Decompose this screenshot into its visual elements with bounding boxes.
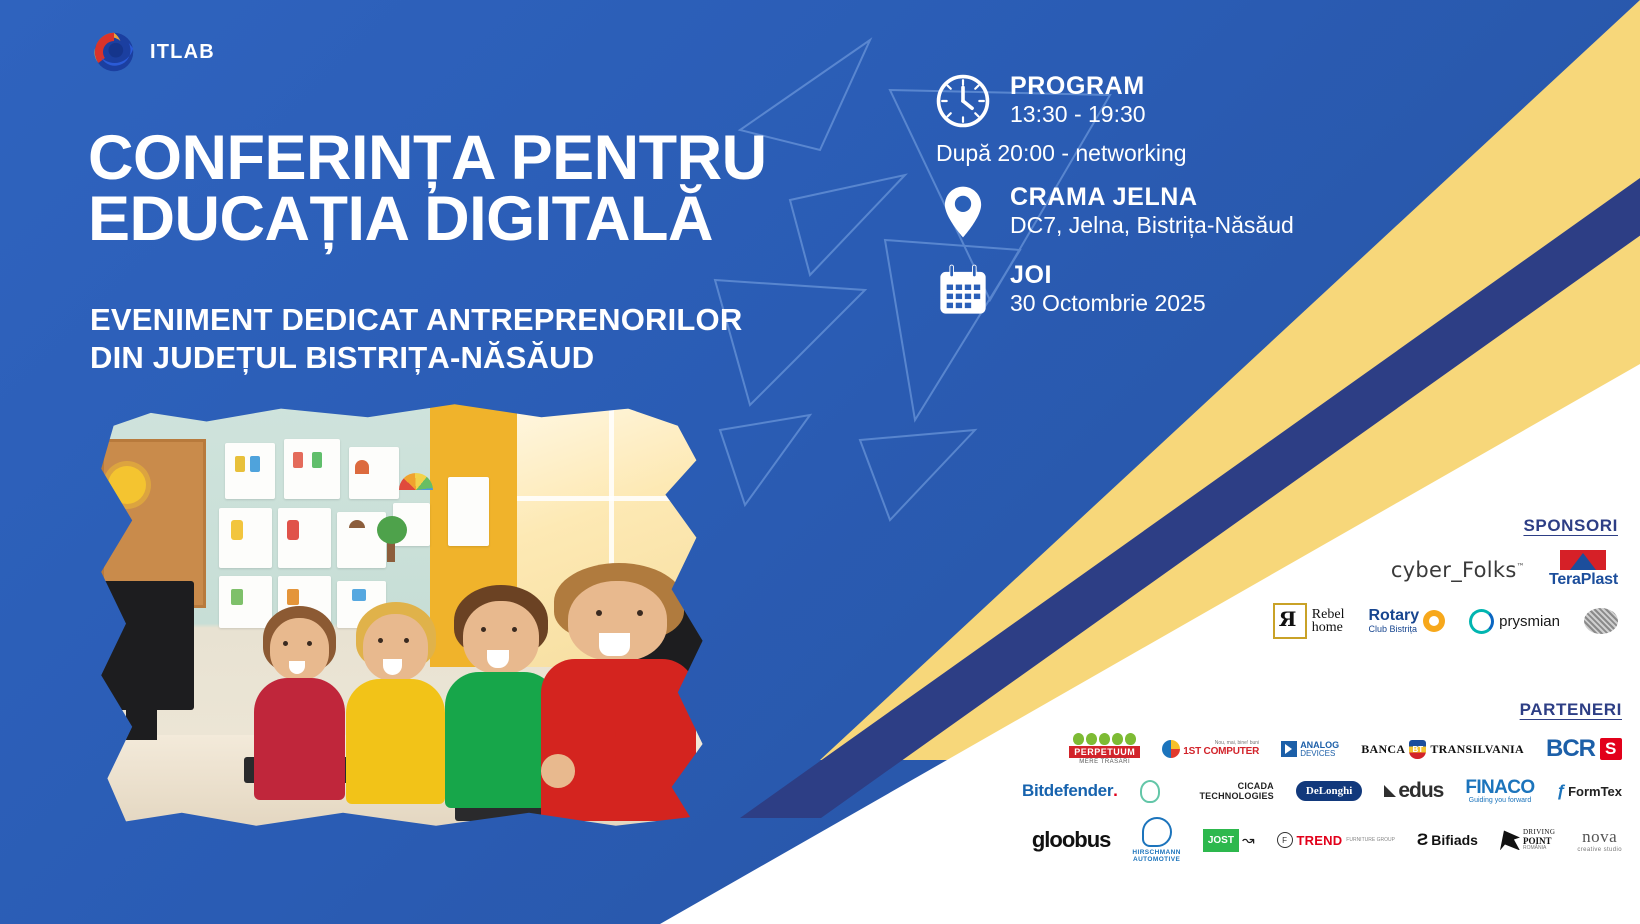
sponsors-section: SPONSORI cyber_Folks™ TeraPlast Rebel ho… — [1198, 516, 1618, 639]
partners-row-2: Bitdefender. CICADA TECHNOLOGIES DeLongh… — [1022, 778, 1622, 804]
bt-shield-icon: BT — [1409, 740, 1426, 759]
logo-banca-transilvania: BANCA BT TRANSILVANIA — [1361, 740, 1524, 759]
driving-point-mark-icon — [1500, 830, 1520, 850]
edus-mark-icon — [1384, 785, 1396, 797]
sponsors-row-1: cyber_Folks™ TeraPlast — [1198, 550, 1618, 589]
teraplast-mark-icon — [1560, 550, 1606, 570]
bcr-mark-icon — [1600, 738, 1622, 760]
logo-gloobus: gloobus — [1032, 827, 1111, 853]
rotary-wheel-icon — [1423, 610, 1445, 632]
logo-analog-devices: ANALOG DEVICES — [1281, 741, 1339, 758]
subtitle-line-2: DIN JUDEȚUL BISTRIȚA-NĂSĂUD — [90, 340, 594, 375]
sponsors-heading: SPONSORI — [1198, 516, 1618, 536]
logo-rebel-home: Rebel home — [1273, 603, 1345, 639]
title-line-1: CONFERINȚA PENTRU — [88, 123, 767, 193]
networking-note: După 20:00 - networking — [936, 140, 1352, 167]
brand-logo: ITLAB — [92, 30, 215, 74]
logo-formtex: ƒ FormTex — [1557, 781, 1622, 801]
date-label: JOI — [1010, 261, 1052, 289]
logo-jost: JOST ↝ — [1203, 829, 1255, 852]
title-line-2: EDUCAȚIA DIGITALĂ — [88, 189, 928, 250]
apples-icon — [1073, 733, 1136, 745]
formtex-mark-icon: ƒ — [1557, 781, 1566, 801]
info-text-location: CRAMA JELNA DC7, Jelna, Bistrița-Năsăud — [1010, 184, 1294, 240]
logo-perpetuum: PERPETUUM MERE TRĂSĂRI — [1069, 733, 1140, 765]
prysmian-mark-icon — [1469, 609, 1494, 634]
partners-row-1: PERPETUUM MERE TRĂSĂRI Nou, mai, bine! b… — [1022, 733, 1622, 765]
itlab-swirl-icon — [92, 30, 136, 74]
analog-mark-icon — [1281, 741, 1297, 757]
logo-trend: F TREND FURNITURE GROUP — [1277, 832, 1395, 848]
page-title: CONFERINȚA PENTRU EDUCAȚIA DIGITALĂ — [88, 128, 928, 250]
info-row-location: CRAMA JELNA DC7, Jelna, Bistrița-Năsăud — [932, 181, 1352, 243]
logo-cicada-technologies: CICADA TECHNOLOGIES — [1140, 780, 1274, 803]
date-value: 30 Octombrie 2025 — [1010, 289, 1206, 318]
logo-hirschmann-automotive: HIRSCHMANN AUTOMOTIVE — [1132, 817, 1180, 864]
brand-name: ITLAB — [150, 41, 215, 64]
page-subtitle: EVENIMENT DEDICAT ANTREPRENORILOR DIN JU… — [90, 301, 950, 377]
logo-delonghi: DeLonghi — [1296, 781, 1362, 801]
rebel-monogram-icon — [1273, 603, 1307, 639]
calendar-icon — [932, 259, 994, 321]
poster-canvas: ITLAB CONFERINȚA PENTRU EDUCAȚIA DIGITAL… — [0, 0, 1640, 924]
program-value: 13:30 - 19:30 — [1010, 100, 1146, 129]
logo-bcr: BCR — [1546, 735, 1622, 763]
info-row-program: PROGRAM 13:30 - 19:30 — [932, 70, 1352, 132]
info-text-program: PROGRAM 13:30 - 19:30 — [1010, 73, 1146, 129]
trend-circle-icon: F — [1277, 832, 1293, 848]
logo-teraplast: TeraPlast — [1549, 550, 1618, 589]
partners-row-3: gloobus HIRSCHMANN AUTOMOTIVE JOST ↝ F T… — [1022, 817, 1622, 864]
arrow-icon: ↝ — [1242, 831, 1255, 849]
logo-1st-computer: Nou, mai, bine! buni 1ST COMPUTER — [1162, 740, 1259, 758]
swirl-icon — [1162, 740, 1180, 758]
logo-finaco: FINACO Guiding you forward — [1465, 778, 1534, 804]
bifiads-mark-icon: Ƨ — [1417, 830, 1428, 850]
location-label: CRAMA JELNA — [1010, 183, 1198, 211]
logo-nova-creative-studio: nova creative studio — [1577, 827, 1622, 853]
hirschmann-mark-icon — [1142, 817, 1172, 847]
sponsors-row-2: Rebel home Rotary Club Bistrița prysmian — [1198, 603, 1618, 639]
location-value: DC7, Jelna, Bistrița-Năsăud — [1010, 211, 1294, 240]
logo-cyber-folks: cyber_Folks™ — [1391, 558, 1525, 582]
map-pin-icon — [932, 181, 994, 243]
clock-icon — [932, 70, 994, 132]
event-info-panel: PROGRAM 13:30 - 19:30 După 20:00 - netwo… — [932, 70, 1352, 321]
partners-section: PARTENERI PERPETUUM MERE TRĂSĂRI Nou, ma… — [1022, 700, 1622, 864]
subtitle-line-1: EVENIMENT DEDICAT ANTREPRENORILOR — [90, 302, 742, 337]
logo-bitdefender: Bitdefender. — [1022, 781, 1118, 801]
classroom-photo — [95, 400, 715, 830]
logo-crest-badge — [1584, 608, 1618, 634]
logo-driving-point: DRIVING POINT ROMÂNIA — [1500, 829, 1555, 851]
logo-bifiads: Ƨ Bifiads — [1417, 830, 1478, 850]
info-row-date: JOI 30 Octombrie 2025 — [932, 259, 1352, 321]
logo-edus: edus — [1384, 779, 1443, 803]
logo-prysmian: prysmian — [1469, 609, 1560, 634]
cicada-mark-icon — [1140, 780, 1161, 803]
info-text-date: JOI 30 Octombrie 2025 — [1010, 262, 1206, 318]
logo-rotary-club: Rotary Club Bistrița — [1368, 608, 1445, 634]
program-label: PROGRAM — [1010, 72, 1145, 100]
partners-heading: PARTENERI — [1022, 700, 1622, 720]
